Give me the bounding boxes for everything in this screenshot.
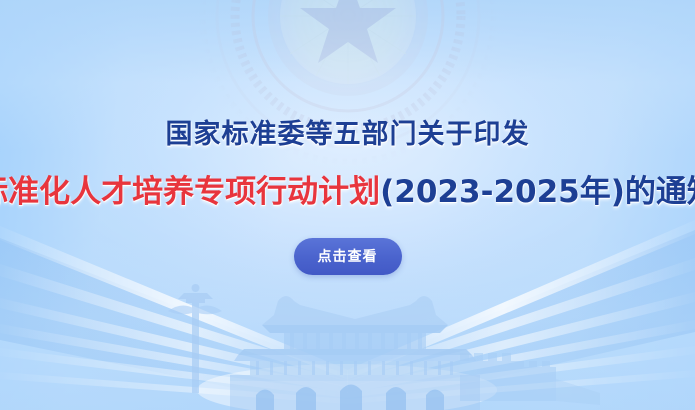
- banner-title-plan-name: 标准化人才培养专项行动计划: [0, 174, 380, 210]
- banner-content: 国家标准委等五部门关于印发 标准化人才培养专项行动计划(2023-2025年)的…: [0, 0, 695, 410]
- banner-title-line-2: 标准化人才培养专项行动计划(2023-2025年)的通知: [0, 174, 695, 211]
- view-details-button[interactable]: 点击查看: [294, 238, 402, 275]
- banner-title-period-suffix: (2023-2025年)的通知: [380, 174, 695, 210]
- notice-banner: 国家标准委等五部门关于印发 标准化人才培养专项行动计划(2023-2025年)的…: [0, 0, 695, 410]
- banner-title-line-1: 国家标准委等五部门关于印发: [166, 118, 530, 152]
- cta-container: 点击查看: [294, 238, 402, 275]
